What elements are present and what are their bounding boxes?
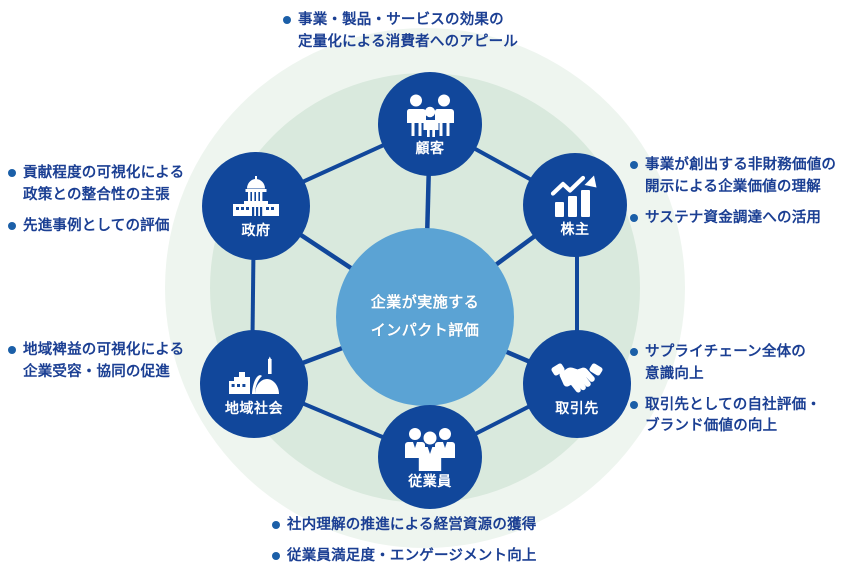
callout-line: 事業・製品・サービスの効果の	[298, 10, 518, 32]
callout-line: 開示による企業価値の理解	[645, 177, 836, 199]
callout-line: 意識向上	[645, 364, 806, 386]
family-people-icon	[404, 93, 456, 139]
callout-employee: 社内理解の推進による経営資源の獲得 従業員満足度・エンゲージメント向上	[272, 515, 537, 568]
bullet-dot-icon	[272, 552, 280, 560]
node-community-label: 地域社会	[225, 401, 283, 415]
bullet-dot-icon	[630, 161, 638, 169]
center-label-line1: 企業が実施する	[371, 289, 480, 317]
node-employee[interactable]: 従業員	[378, 405, 482, 509]
callout-investor: 事業が創出する非財務価値の 開示による企業価値の理解 サステナ資金調達への活用	[630, 155, 836, 229]
handshake-icon	[551, 353, 603, 399]
bullet-dot-icon	[630, 214, 638, 222]
bar-chart-growth-icon	[549, 174, 601, 220]
node-investor-label: 株主	[561, 222, 590, 236]
callout-line: ブランド価値の向上	[645, 416, 821, 438]
callout-employee-item-0: 社内理解の推進による経営資源の獲得	[272, 515, 537, 537]
callout-investor-item-1: サステナ資金調達への活用	[630, 208, 836, 230]
callout-employee-item-1: 従業員満足度・エンゲージメント向上	[272, 546, 537, 568]
node-partner[interactable]: 取引先	[523, 330, 631, 438]
callout-customer-item-0: 事業・製品・サービスの効果の 定量化による消費者へのアピール	[283, 10, 518, 54]
node-customer[interactable]: 顧客	[378, 72, 482, 176]
diagram-canvas: 企業が実施する インパクト評価 顧客 株主	[0, 0, 850, 575]
callout-investor-item-0: 事業が創出する非財務価値の 開示による企業価値の理解	[630, 155, 836, 199]
callout-line: 貢献程度の可視化による	[23, 163, 184, 185]
callout-line: サプライチェーン全体の	[645, 342, 806, 364]
node-employee-label: 従業員	[408, 474, 452, 488]
bullet-dot-icon	[630, 401, 638, 409]
node-gov[interactable]: 政府	[202, 152, 310, 260]
callout-line: 取引先としての自社評価・	[645, 395, 821, 417]
cityscape-icon	[228, 353, 280, 399]
callout-partner-item-0: サプライチェーン全体の 意識向上	[630, 342, 821, 386]
callout-line: 政策との整合性の主張	[23, 185, 184, 207]
center-node[interactable]: 企業が実施する インパクト評価	[336, 228, 514, 406]
callout-line: 定量化による消費者へのアピール	[298, 32, 518, 54]
bullet-dot-icon	[283, 16, 291, 24]
bullet-dot-icon	[272, 521, 280, 529]
bullet-dot-icon	[8, 169, 16, 177]
callout-community: 地域裨益の可視化による 企業受容・協同の促進	[8, 340, 184, 384]
callout-line: 従業員満足度・エンゲージメント向上	[287, 546, 537, 568]
callout-line: 地域裨益の可視化による	[23, 340, 184, 362]
bullet-dot-icon	[630, 348, 638, 356]
bullet-dot-icon	[8, 222, 16, 230]
callout-gov: 貢献程度の可視化による 政策との整合性の主張 先進事例としての評価	[8, 163, 184, 237]
callout-line: サステナ資金調達への活用	[645, 208, 821, 230]
callout-line: 企業受容・協同の促進	[23, 362, 184, 384]
bullet-dot-icon	[8, 346, 16, 354]
callout-line: 事業が創出する非財務価値の	[645, 155, 836, 177]
callout-line: 社内理解の推進による経営資源の獲得	[287, 515, 536, 537]
node-gov-label: 政府	[242, 223, 271, 237]
capitol-building-icon	[230, 175, 282, 221]
business-people-icon	[404, 426, 456, 472]
callout-partner: サプライチェーン全体の 意識向上 取引先としての自社評価・ ブランド価値の向上	[630, 342, 821, 438]
callout-community-item-0: 地域裨益の可視化による 企業受容・協同の促進	[8, 340, 184, 384]
node-investor[interactable]: 株主	[523, 153, 627, 257]
callout-gov-item-0: 貢献程度の可視化による 政策との整合性の主張	[8, 163, 184, 207]
center-label-line2: インパクト評価	[371, 317, 480, 345]
node-customer-label: 顧客	[416, 141, 445, 155]
callout-gov-item-1: 先進事例としての評価	[8, 216, 184, 238]
node-community[interactable]: 地域社会	[200, 330, 308, 438]
node-partner-label: 取引先	[555, 401, 599, 415]
callout-partner-item-1: 取引先としての自社評価・ ブランド価値の向上	[630, 395, 821, 439]
callout-customer: 事業・製品・サービスの効果の 定量化による消費者へのアピール	[283, 10, 518, 54]
callout-line: 先進事例としての評価	[23, 216, 170, 238]
